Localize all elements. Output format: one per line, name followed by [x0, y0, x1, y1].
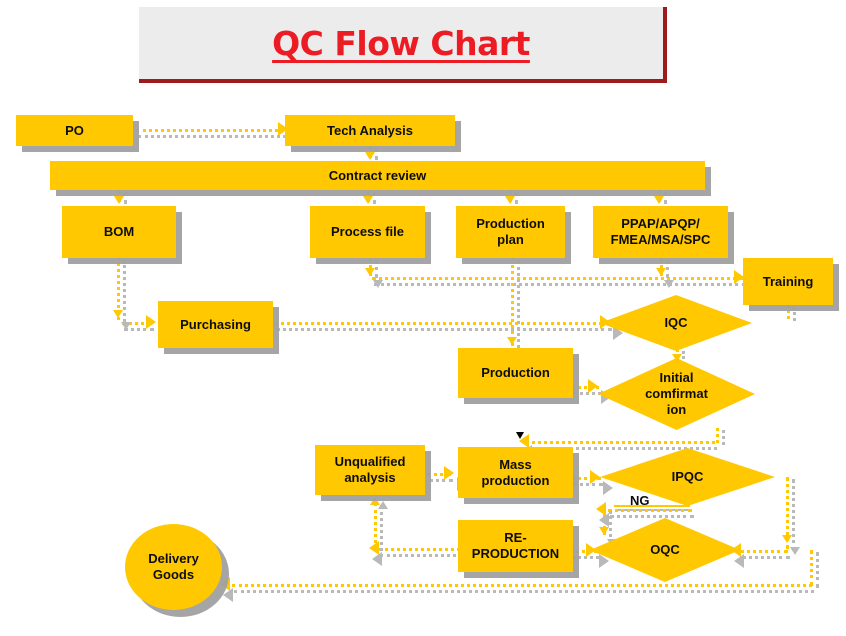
arrowhead-contract-to-ppap [654, 196, 664, 204]
node-po[interactable]: PO [16, 115, 133, 146]
edge-training-down [787, 305, 790, 319]
edge-re-production-to-unqualified [378, 548, 460, 551]
arrowhead-mass-production-to-ipqc [590, 470, 600, 484]
edge-oqc-bottom-down [810, 550, 813, 586]
node-ppap-apqp-label: PPAP/APQP/ FMEA/MSA/SPC [607, 216, 715, 248]
node-production-plan-label: Production plan [472, 216, 549, 248]
node-mass-line2: production [482, 473, 550, 488]
node-mass-line1: Mass [499, 457, 532, 472]
node-po-label: PO [61, 123, 88, 139]
arrowhead-unqualified-to-mass-production [444, 466, 454, 480]
node-oqc[interactable]: OQC [590, 518, 740, 582]
edge-initial-right-down [716, 428, 719, 443]
arrowhead-production-to-initial [588, 379, 598, 393]
edge-oqc-to-delivery [232, 584, 812, 587]
node-initial-line2: comfirmat [645, 386, 708, 401]
node-ppap-line2: FMEA/MSA/SPC [611, 232, 711, 247]
qc-flow-chart-canvas: QC Flow Chart [0, 0, 846, 636]
node-contract-review-label: Contract review [325, 168, 431, 184]
node-delivery-goods-label: Delivery Goods [148, 551, 199, 583]
node-purchasing[interactable]: Purchasing [158, 301, 273, 348]
node-iqc[interactable]: IQC [600, 295, 752, 351]
node-production[interactable]: Production [458, 348, 573, 398]
page-title: QC Flow Chart [272, 24, 530, 63]
arrowhead-production-plan-to-production [507, 337, 517, 345]
edge-right-into-oqc [740, 550, 788, 553]
node-production-plan-line1: Production [476, 216, 545, 231]
node-ipqc-label: IPQC [672, 469, 704, 485]
node-reprod-line2: PRODUCTION [472, 546, 559, 561]
node-initial-line1: Initial [660, 370, 694, 385]
node-tech-analysis-label: Tech Analysis [323, 123, 417, 139]
node-purchasing-label: Purchasing [176, 317, 255, 333]
arrowhead-re-production-to-unqualified [369, 541, 379, 555]
node-contract-review[interactable]: Contract review [50, 161, 705, 190]
node-initial-confirmation[interactable]: Initial comfirmat ion [598, 358, 755, 430]
node-process-file[interactable]: Process file [310, 206, 425, 258]
node-mass-production[interactable]: Mass production [458, 447, 573, 498]
node-delivery-line1: Delivery [148, 551, 199, 566]
node-reprod-line1: RE- [504, 530, 526, 545]
edge-po-to-tech-analysis [136, 129, 284, 132]
node-initial-confirmation-label: Initial comfirmat ion [645, 370, 708, 418]
arrowhead-contract-to-process-file [363, 196, 373, 204]
edge-process-file-to-training-line [372, 277, 744, 280]
node-process-file-label: Process file [327, 224, 408, 240]
node-delivery-goods[interactable]: Delivery Goods [125, 524, 222, 610]
node-unqualified-line2: analysis [344, 470, 395, 485]
node-unqualified-line1: Unqualified [335, 454, 406, 469]
node-ppap-apqp[interactable]: PPAP/APQP/ FMEA/MSA/SPC [593, 206, 728, 258]
arrowhead-tech-analysis-to-contract [365, 152, 375, 160]
title-banner: QC Flow Chart [139, 7, 667, 83]
node-delivery-line2: Goods [153, 567, 194, 582]
node-re-production-label: RE- PRODUCTION [468, 530, 563, 562]
node-bom[interactable]: BOM [62, 206, 176, 258]
node-iqc-label: IQC [664, 315, 687, 331]
node-initial-line3: ion [667, 402, 687, 417]
node-ppap-line1: PPAP/APQP/ [621, 216, 700, 231]
arrowhead-process-file-down [365, 268, 375, 276]
node-production-plan[interactable]: Production plan [456, 206, 565, 258]
node-unqualified-analysis[interactable]: Unqualified analysis [315, 445, 425, 495]
node-bom-label: BOM [100, 224, 138, 240]
arrowhead-ppap-down [656, 268, 666, 276]
node-tech-analysis[interactable]: Tech Analysis [285, 115, 455, 146]
arrowhead-ipqc-right-down [782, 535, 792, 543]
arrowhead-unqualified-up [370, 497, 380, 505]
arrowhead-contract-to-bom [114, 196, 124, 204]
node-unqualified-analysis-label: Unqualified analysis [331, 454, 410, 486]
arrowhead-oqc-to-delivery [220, 577, 230, 591]
arrowhead-bom-down [113, 310, 123, 318]
arrowhead-contract-to-production-plan [505, 196, 515, 204]
node-ipqc[interactable]: IPQC [600, 448, 775, 506]
edge-purchasing-to-iqc [274, 322, 610, 325]
node-training-label: Training [759, 274, 818, 290]
edge-ng-to-re-production [608, 509, 692, 512]
edge-label-ng: NG [630, 493, 650, 508]
node-mass-production-label: Mass production [478, 457, 554, 489]
node-oqc-label: OQC [650, 542, 680, 558]
node-training[interactable]: Training [743, 258, 833, 305]
node-re-production[interactable]: RE- PRODUCTION [458, 520, 573, 572]
node-production-label: Production [477, 365, 554, 381]
node-production-plan-line2: plan [497, 232, 524, 247]
edge-production-plan-down [511, 258, 514, 346]
edge-initial-to-mass-production [525, 441, 715, 444]
arrowhead-black-into-mass-production [516, 432, 524, 439]
arrowhead-bom-to-purchasing [146, 315, 156, 329]
